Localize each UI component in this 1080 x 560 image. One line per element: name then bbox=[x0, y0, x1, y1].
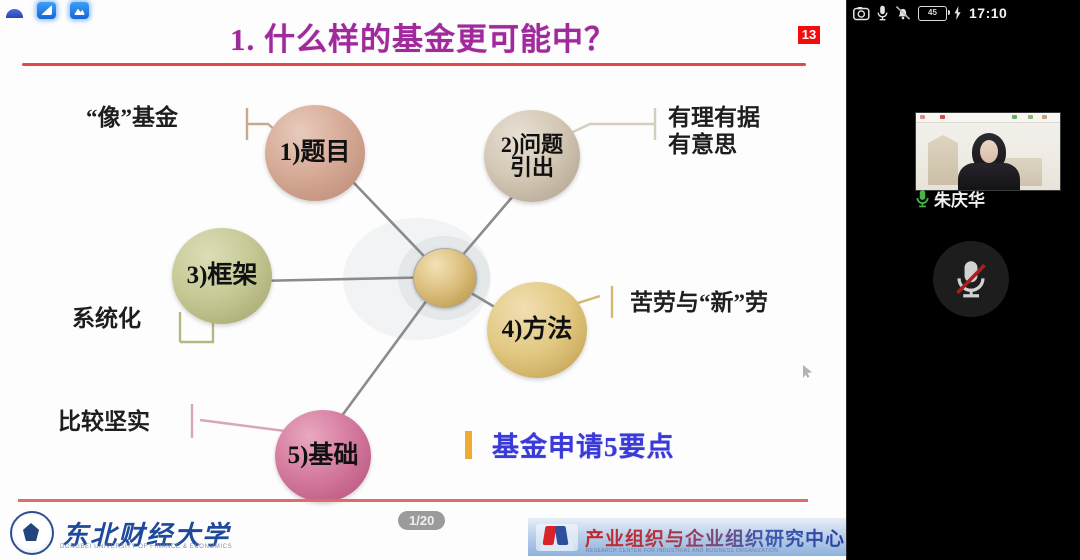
diagram-node-3-label: 3)框架 bbox=[187, 263, 258, 289]
callout-like: “像”基金 bbox=[86, 104, 178, 131]
meeting-panel: 45 17:10 bbox=[846, 0, 1080, 560]
bell-off-icon bbox=[895, 5, 911, 21]
kicker: 基金申请5要点 bbox=[465, 425, 675, 464]
diagram-node-2[interactable]: 2)问题 引出 bbox=[484, 110, 580, 202]
battery-icon: 45 bbox=[918, 6, 947, 21]
diagram-node-3[interactable]: 3)框架 bbox=[172, 228, 272, 324]
microphone-icon bbox=[877, 5, 888, 21]
callout-solid: 比较坚实 bbox=[58, 408, 150, 435]
window-dot-2 bbox=[940, 115, 945, 119]
diagram-node-2-label-line2: 引出 bbox=[501, 156, 563, 179]
shared-window-titlebar bbox=[916, 113, 1060, 123]
window-dot-1 bbox=[920, 115, 925, 119]
callout-system: 系统化 bbox=[72, 305, 141, 332]
diagram-node-5[interactable]: 5)基础 bbox=[275, 410, 371, 502]
school-seal-icon bbox=[10, 511, 54, 555]
slide-pane[interactable]: 1. 什么样的基金更可能中？ 13 bbox=[0, 0, 846, 560]
school-name-en: DONGBEI UNIVERSITY OF FINANCE & ECONOMIC… bbox=[60, 544, 232, 550]
research-center-name: 产业组织与企业组织研究中心 bbox=[585, 524, 845, 551]
diagram-node-1[interactable]: 1)题目 bbox=[265, 105, 365, 201]
participant-name: 朱庆华 bbox=[934, 186, 985, 211]
participant-name-row: 朱庆华 bbox=[915, 186, 985, 211]
kicker-bar bbox=[465, 431, 472, 459]
footer-rule bbox=[18, 499, 808, 502]
kicker-text: 基金申请5要点 bbox=[492, 425, 675, 464]
callout-reason-line1: 有理有据 bbox=[668, 104, 760, 131]
callout-effort: 苦劳与“新”劳 bbox=[630, 289, 768, 316]
meeting-screen: 1. 什么样的基金更可能中？ 13 bbox=[0, 0, 1080, 560]
diagram-hub-node bbox=[413, 248, 477, 308]
callout-reason-line2: 有意思 bbox=[668, 131, 760, 158]
research-center-name-en: RESEARCH CENTER FOR INDUSTRIAL AND BUSIN… bbox=[586, 548, 778, 554]
camera-icon bbox=[853, 6, 870, 21]
diagram-node-1-label: 1)题目 bbox=[280, 140, 351, 166]
diagram-node-4-label: 4)方法 bbox=[502, 317, 573, 343]
window-dot-4 bbox=[1028, 115, 1033, 119]
background-building-left bbox=[928, 135, 958, 185]
diagram-node-4[interactable]: 4)方法 bbox=[487, 282, 587, 378]
diagram: 1)题目 2)问题 引出 3)框架 4)方法 5)基础 “像 bbox=[0, 0, 846, 560]
mute-toggle-button[interactable] bbox=[933, 241, 1009, 317]
participant-face bbox=[980, 140, 998, 163]
window-dot-5 bbox=[1042, 115, 1047, 119]
battery-level: 45 bbox=[928, 9, 937, 17]
page-indicator: 1/20 bbox=[398, 511, 445, 530]
diagram-node-2-label-line1: 2)问题 bbox=[501, 133, 563, 156]
research-center-logo-icon bbox=[536, 524, 578, 551]
participant-video-frame bbox=[916, 113, 1060, 190]
callout-reason: 有理有据 有意思 bbox=[668, 104, 760, 158]
slide-canvas: 1. 什么样的基金更可能中？ 13 bbox=[0, 0, 846, 560]
microphone-active-icon bbox=[915, 189, 930, 208]
window-dot-3 bbox=[1012, 115, 1017, 119]
status-bar-clock: 17:10 bbox=[969, 5, 1007, 21]
diagram-node-5-label: 5)基础 bbox=[288, 443, 359, 469]
research-center-banner: 产业组织与企业组织研究中心 RESEARCH CENTER FOR INDUST… bbox=[528, 518, 846, 556]
microphone-muted-icon bbox=[953, 258, 989, 300]
participant-video-tile[interactable] bbox=[915, 112, 1061, 191]
status-bar: 45 17:10 bbox=[847, 0, 1080, 26]
charging-bolt-icon bbox=[954, 6, 961, 20]
